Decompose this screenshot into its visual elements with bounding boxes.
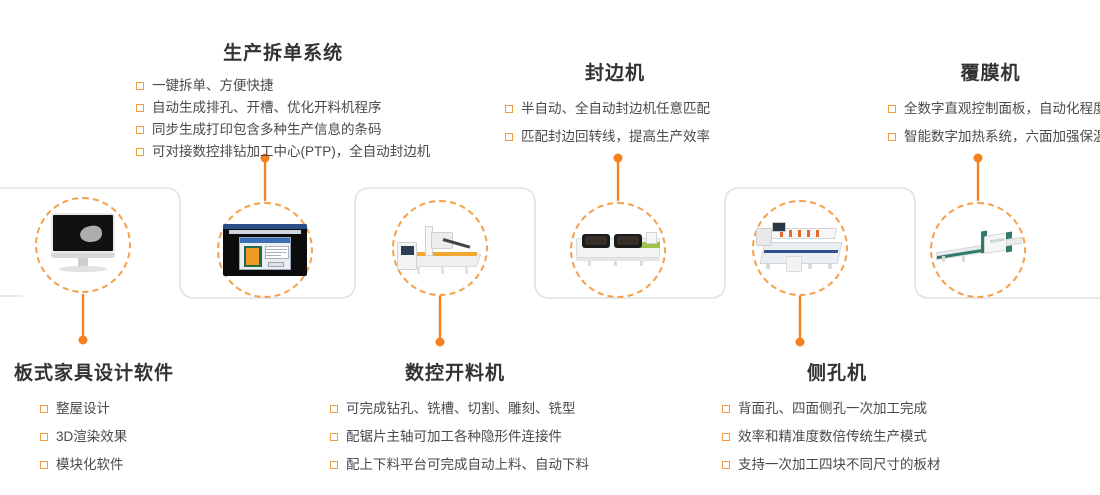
bullet-square-icon	[136, 148, 144, 156]
block-title: 板式家具设计软件	[14, 358, 174, 385]
block-title: 覆膜机	[888, 58, 1093, 85]
block-bullets: 整屋设计 3D渲染效果 模块化软件	[14, 395, 174, 479]
node-split-order-system[interactable]	[217, 202, 313, 298]
bullet-square-icon	[136, 104, 144, 112]
imac-monitor-icon	[39, 201, 127, 289]
bullet-square-icon	[136, 82, 144, 90]
bullet-square-icon	[330, 461, 338, 469]
list-item: 一键拆单、方便快捷	[136, 75, 430, 97]
block-bullets: 可完成钻孔、铣槽、切割、雕刻、铣型 配锯片主轴可加工各种隐形件连接件 配上下料平…	[330, 395, 589, 479]
bullet-square-icon	[722, 433, 730, 441]
block-bullets: 全数字直观控制面板，自动化程度高 智能数字加热系统，六面加强保温	[888, 95, 1100, 151]
block-bullets: 背面孔、四面侧孔一次加工完成 效率和精准度数倍传统生产模式 支持一次加工四块不同…	[722, 395, 952, 479]
list-item: 效率和精准度数倍传统生产模式	[722, 423, 952, 451]
block-title: 数控开料机	[330, 358, 580, 385]
block-bullets: 半自动、全自动封边机任意匹配 匹配封边回转线，提高生产效率	[505, 95, 725, 151]
list-item: 半自动、全自动封边机任意匹配	[505, 95, 725, 123]
laminator-icon	[934, 206, 1022, 294]
node-side-hole-machine[interactable]	[752, 200, 848, 296]
block-title: 侧孔机	[722, 358, 952, 385]
list-item: 同步生成打印包含多种生产信息的条码	[136, 119, 430, 141]
bullet-square-icon	[40, 433, 48, 441]
bullet-square-icon	[40, 461, 48, 469]
list-item: 可对接数控排钻加工中心(PTP)，全自动封边机	[136, 141, 430, 163]
bullet-square-icon	[40, 405, 48, 413]
bullet-square-icon	[330, 405, 338, 413]
list-item: 背面孔、四面侧孔一次加工完成	[722, 395, 952, 423]
node-edge-banding-machine[interactable]	[570, 202, 666, 298]
node-laminating-machine[interactable]	[930, 202, 1026, 298]
cnc-router-icon	[396, 204, 484, 292]
list-item: 自动生成排孔、开槽、优化开料机程序	[136, 97, 430, 119]
list-item: 全数字直观控制面板，自动化程度高	[888, 95, 1100, 123]
bullet-square-icon	[888, 133, 896, 141]
list-item: 配上下料平台可完成自动上料、自动下料	[330, 451, 589, 479]
list-item: 3D渲染效果	[40, 423, 174, 451]
bullet-square-icon	[722, 461, 730, 469]
list-item: 整屋设计	[40, 395, 174, 423]
node-cnc-cutting-machine[interactable]	[392, 200, 488, 296]
block-laminating-machine: 覆膜机 全数字直观控制面板，自动化程度高 智能数字加热系统，六面加强保温	[888, 58, 1100, 151]
bullet-square-icon	[722, 405, 730, 413]
block-title: 生产拆单系统	[136, 38, 430, 65]
bullet-square-icon	[888, 105, 896, 113]
bullet-square-icon	[330, 433, 338, 441]
infographic-stage: 生产拆单系统 一键拆单、方便快捷 自动生成排孔、开槽、优化开料机程序 同步生成打…	[0, 0, 1100, 495]
block-cnc-cutting-machine: 数控开料机 可完成钻孔、铣槽、切割、雕刻、铣型 配锯片主轴可加工各种隐形件连接件…	[330, 358, 589, 479]
block-split-order-system: 生产拆单系统 一键拆单、方便快捷 自动生成排孔、开槽、优化开料机程序 同步生成打…	[136, 38, 430, 163]
block-edge-banding-machine: 封边机 半自动、全自动封边机任意匹配 匹配封边回转线，提高生产效率	[505, 58, 725, 151]
list-item: 智能数字加热系统，六面加强保温	[888, 123, 1100, 151]
list-item: 支持一次加工四块不同尺寸的板材	[722, 451, 952, 479]
list-item: 匹配封边回转线，提高生产效率	[505, 123, 725, 151]
list-item: 可完成钻孔、铣槽、切割、雕刻、铣型	[330, 395, 589, 423]
bullet-square-icon	[505, 105, 513, 113]
block-side-hole-machine: 侧孔机 背面孔、四面侧孔一次加工完成 效率和精准度数倍传统生产模式 支持一次加工…	[722, 358, 952, 479]
node-design-software[interactable]	[35, 197, 131, 293]
block-title: 封边机	[505, 58, 725, 85]
software-window-icon	[221, 206, 309, 294]
edge-bander-icon	[574, 206, 662, 294]
list-item: 配锯片主轴可加工各种隐形件连接件	[330, 423, 589, 451]
bullet-square-icon	[136, 126, 144, 134]
block-design-software: 板式家具设计软件 整屋设计 3D渲染效果 模块化软件	[14, 358, 174, 479]
block-bullets: 一键拆单、方便快捷 自动生成排孔、开槽、优化开料机程序 同步生成打印包含多种生产…	[136, 75, 430, 163]
side-drilling-icon	[756, 204, 844, 292]
bullet-square-icon	[505, 133, 513, 141]
list-item: 模块化软件	[40, 451, 174, 479]
